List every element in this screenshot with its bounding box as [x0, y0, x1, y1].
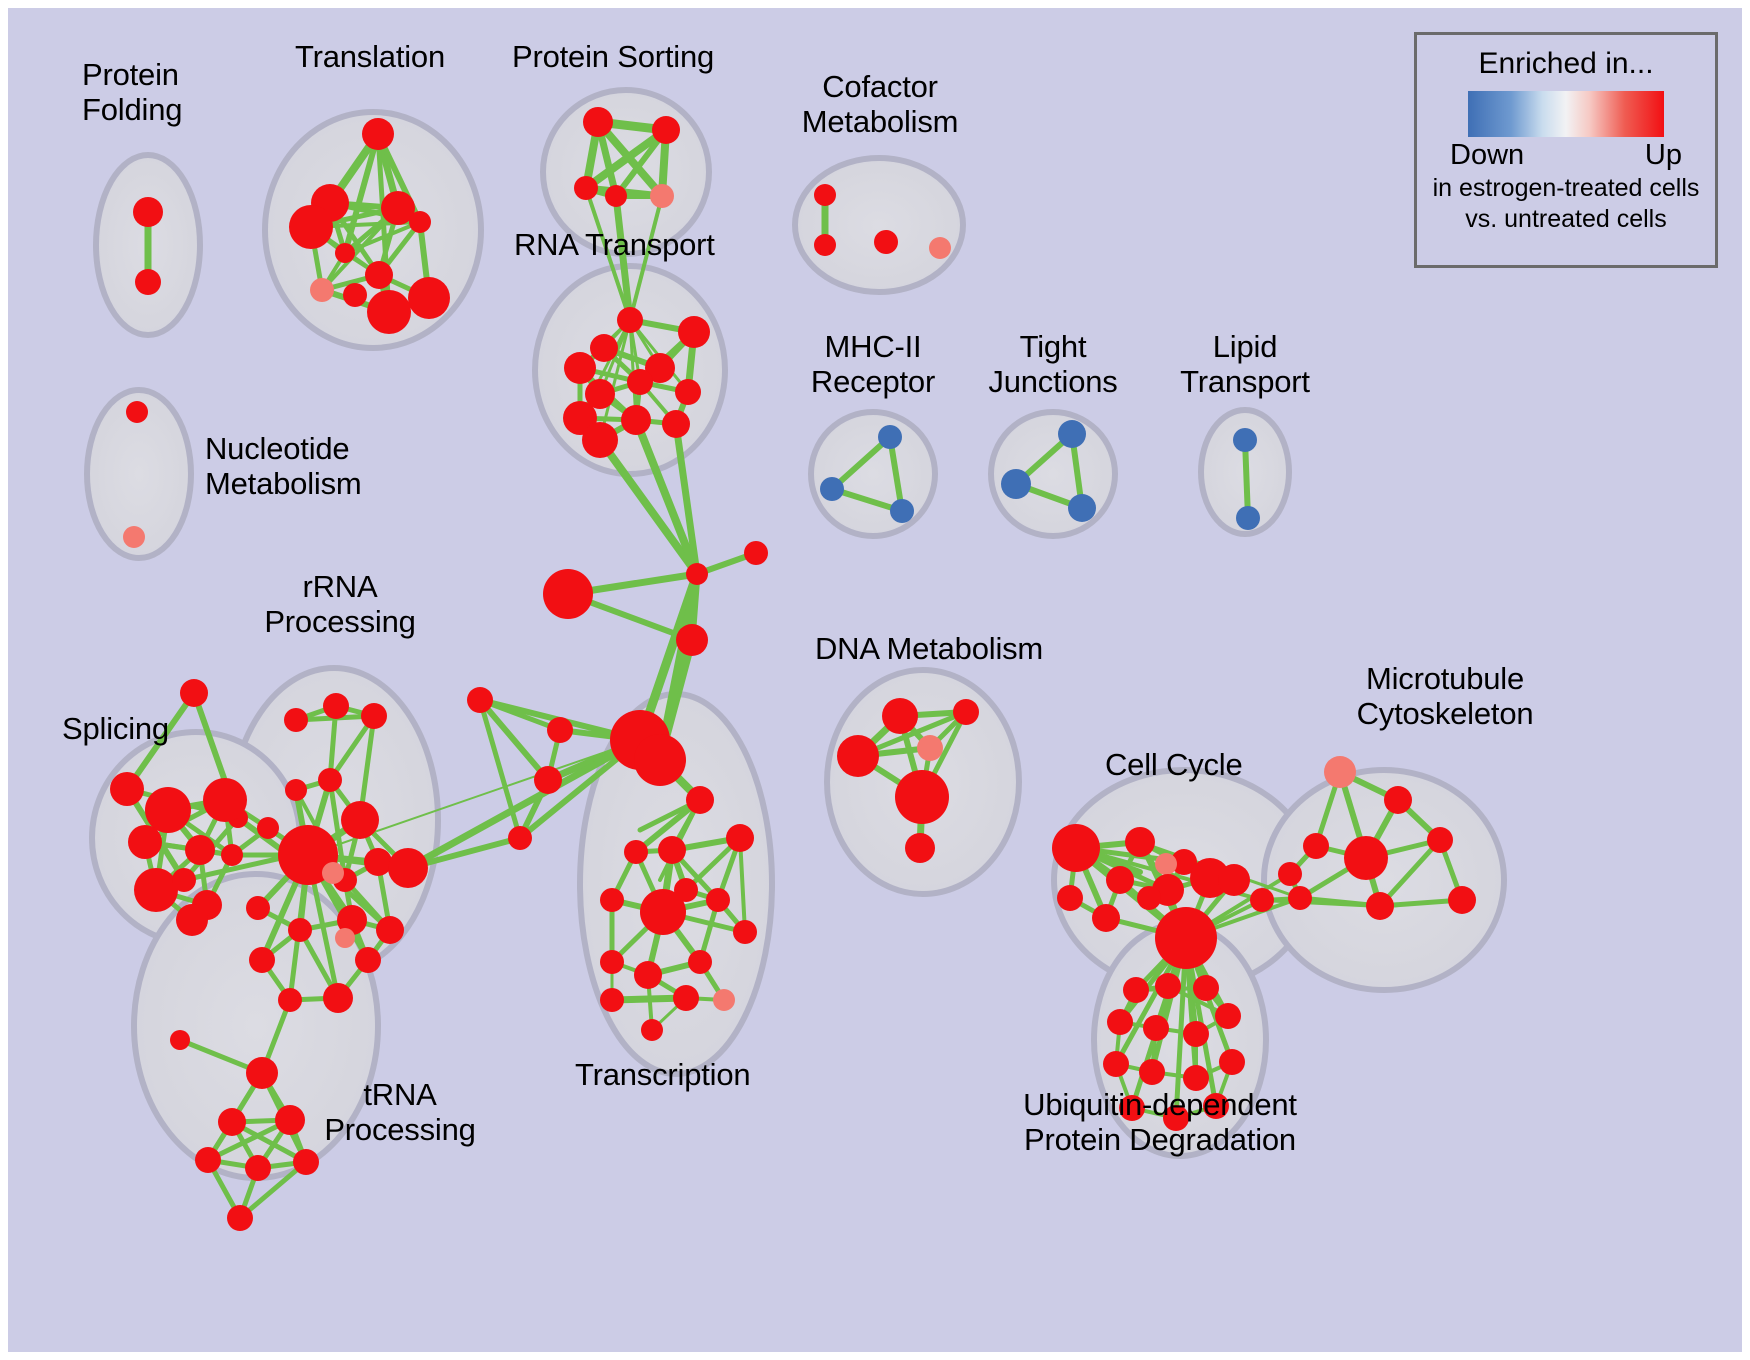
legend-panel: Enriched in... Down Up in estrogen-treat… [1414, 32, 1718, 268]
legend-up-label: Up [1645, 139, 1682, 172]
cluster-label-rrna-processing: rRNA Processing [240, 570, 440, 639]
cluster-label-cell-cycle: Cell Cycle [1105, 748, 1243, 783]
cluster-label-cofactor-metabolism: Cofactor Metabolism [780, 70, 980, 139]
cluster-label-nucleotide-metabolism: Nucleotide Metabolism [205, 432, 362, 501]
cluster-label-protein-folding: Protein Folding [82, 58, 182, 127]
cluster-label-lipid-transport: Lipid Transport [1155, 330, 1335, 399]
cluster-label-tight-junctions: Tight Junctions [973, 330, 1133, 399]
cluster-label-dna-metabolism: DNA Metabolism [815, 632, 1043, 667]
cluster-label-translation: Translation [295, 40, 445, 75]
hull-mhc [811, 412, 935, 536]
cluster-label-trna-processing: tRNA Processing [300, 1078, 500, 1147]
legend-down-label: Down [1450, 139, 1524, 172]
figure-canvas: .hull{fill:url(#cgrad);stroke:#b2b2c6;st… [0, 0, 1750, 1360]
cluster-label-microtubule-cytoskeleton: Microtubule Cytoskeleton [1300, 662, 1590, 731]
cluster-label-splicing: Splicing [62, 712, 169, 747]
cluster-label-rna-transport: RNA Transport [514, 228, 715, 263]
legend-subtitle-line2: vs. untreated cells [1417, 205, 1715, 234]
hull-cofactor [795, 158, 963, 292]
cluster-label-protein-sorting: Protein Sorting [512, 40, 714, 75]
legend-endpoints: Down Up [1450, 139, 1682, 172]
legend-title: Enriched in... [1417, 47, 1715, 81]
cluster-label-mhc-ii-receptor: MHC-II Receptor [793, 330, 953, 399]
legend-subtitle-line1: in estrogen-treated cells [1417, 174, 1715, 203]
cluster-label-transcription: Transcription [575, 1058, 750, 1093]
cluster-label-ubiquitin-degradation: Ubiquitin-dependent Protein Degradation [990, 1088, 1330, 1157]
legend-colorbar [1468, 91, 1664, 137]
